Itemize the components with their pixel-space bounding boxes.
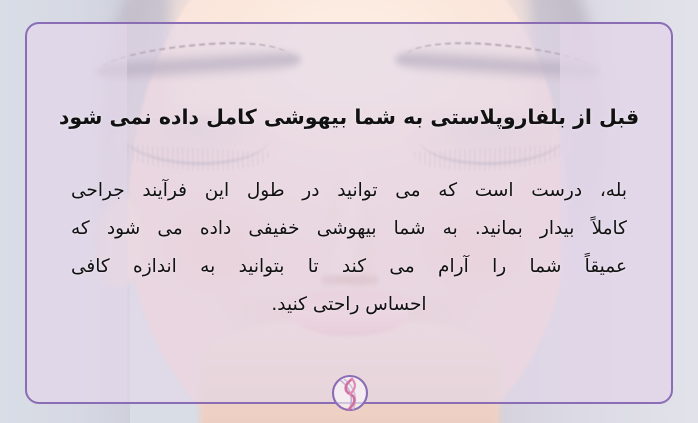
ribbon-logo-icon [330,372,370,414]
text-content: قبل از بلفاروپلاستی به شما بیهوشی کامل د… [25,22,673,404]
body-line-4: احساس راحتی کنید. [71,286,627,324]
page-title: قبل از بلفاروپلاستی به شما بیهوشی کامل د… [25,105,673,129]
screenshot-root: قبل از بلفاروپلاستی به شما بیهوشی کامل د… [0,0,698,423]
body-line-2: کاملاً بیدار بمانید. به شما بیهوشی خفیفی… [71,210,627,248]
body-line-3: عمیقاً شما را آرام می کند تا بتوانید به … [71,248,627,286]
watermark-logo [330,372,370,414]
body-line-1: بله، درست است که می توانید در طول این فر… [71,172,627,210]
body-text: بله، درست است که می توانید در طول این فر… [71,172,627,324]
